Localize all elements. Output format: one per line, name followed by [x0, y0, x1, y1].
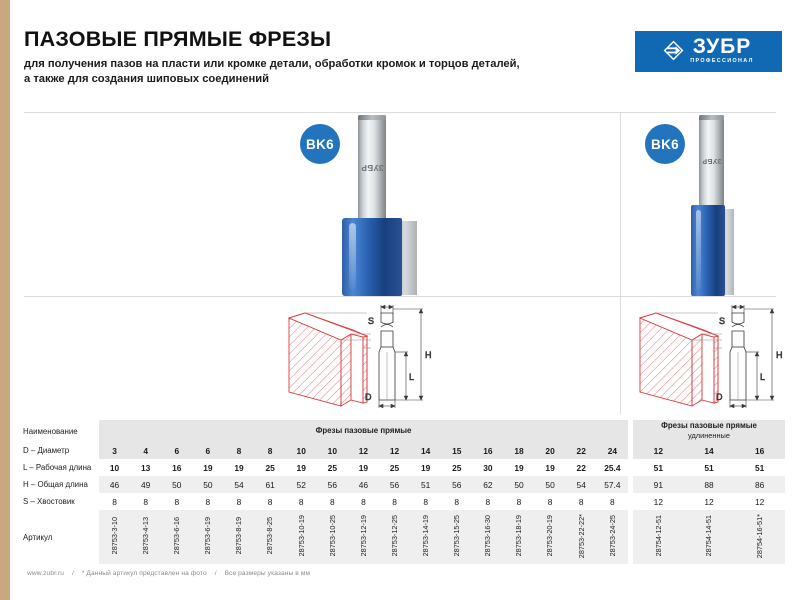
bit-body-highlight [349, 223, 356, 289]
cell-working-length-9: 19 [348, 459, 379, 476]
article-code: 28753-6-16 [173, 517, 180, 554]
cell-article-4: 28753-6-19 [192, 510, 223, 564]
cell-shank-2: 8 [130, 493, 161, 510]
article-code: 28753-6-19 [204, 517, 211, 554]
cell-diameter-16: 22 [566, 442, 597, 459]
cell-article-5: 28753-8-19 [223, 510, 254, 564]
cell-diameter-11: 14 [410, 442, 441, 459]
cell-total-length-4: 50 [192, 476, 223, 493]
cell-working-length-8: 25 [317, 459, 348, 476]
group-header-extended: Фрезы пазовые прямые удлиненные [633, 420, 785, 442]
row-label-total-length: H – Общая длина [15, 476, 99, 493]
cell-total-length-7: 52 [286, 476, 317, 493]
cell-working-length-1: 51 [633, 459, 684, 476]
footer-note-photo: * Данный артикул представлен на фото [82, 570, 207, 577]
cell-total-length-12: 56 [441, 476, 472, 493]
cell-working-length-6: 25 [255, 459, 286, 476]
router-bit-standard: ЗУБР [341, 115, 417, 296]
spec-table-standard: Наименование Фрезы пазовые прямые D – Ди… [15, 420, 628, 564]
bit-brand-mark: ЗУБР [702, 157, 722, 164]
cell-total-length-1: 46 [99, 476, 130, 493]
dimension-label-h: H [776, 350, 783, 360]
router-bit-extended: ЗУБР [685, 115, 741, 296]
footer-separator-2: / [215, 570, 217, 577]
article-code: 28753-18-19 [515, 515, 522, 556]
cell-diameter-12: 15 [441, 442, 472, 459]
article-code: 28753-8-25 [266, 517, 273, 554]
cell-total-length-11: 51 [410, 476, 441, 493]
divider-vertical-diagrams [620, 296, 621, 414]
cell-total-length-16: 54 [566, 476, 597, 493]
article-code: 28753-4-13 [142, 517, 149, 554]
cell-total-length-2: 49 [130, 476, 161, 493]
cell-total-length-9: 46 [348, 476, 379, 493]
article-code: 28754-16-51* [756, 514, 763, 558]
article-code: 28753-16-30 [484, 515, 491, 556]
cell-shank-13: 8 [472, 493, 503, 510]
cell-working-length-3: 51 [734, 459, 785, 476]
cell-total-length-17: 57.4 [597, 476, 628, 493]
cell-article-15: 28753-20-19 [535, 510, 566, 564]
bit-shank-top [699, 115, 724, 120]
table-row-article: Артикул28753-3-1028753-4-1328753-6-16287… [15, 510, 628, 564]
cell-article-7: 28753-10-19 [286, 510, 317, 564]
product-photo-extended: BK6 ЗУБР [621, 112, 776, 296]
cell-working-length-10: 25 [379, 459, 410, 476]
dimension-label-h: H [425, 350, 432, 360]
bison-arrow-icon [663, 40, 684, 61]
cell-diameter-2: 14 [684, 442, 735, 459]
technical-diagram-standard: S H L D [275, 300, 455, 412]
article-code: 28753-22-22* [578, 514, 585, 558]
cell-shank-1: 12 [633, 493, 684, 510]
cell-shank-8: 8 [317, 493, 348, 510]
cell-diameter-10: 12 [379, 442, 410, 459]
cell-diameter-3: 16 [734, 442, 785, 459]
cell-working-length-16: 22 [566, 459, 597, 476]
cell-working-length-14: 19 [503, 459, 534, 476]
group-header-standard: Фрезы пазовые прямые [99, 420, 628, 442]
cell-shank-14: 8 [503, 493, 534, 510]
spec-table-extended: Фрезы пазовые прямые удлиненные 121416 5… [633, 420, 785, 564]
cell-diameter-6: 8 [255, 442, 286, 459]
bit-brand-mark: ЗУБР [361, 163, 384, 172]
cell-shank-3: 8 [161, 493, 192, 510]
table-row-working-length: 515151 [633, 459, 785, 476]
footer: www.zubr.ru / * Данный артикул представл… [24, 570, 313, 577]
product-photo-standard: BK6 ЗУБР [24, 112, 620, 296]
bit-shank-top [358, 115, 386, 120]
cell-article-2: 28753-4-13 [130, 510, 161, 564]
article-code: 28753-3-10 [111, 517, 118, 554]
cell-working-length-1: 10 [99, 459, 130, 476]
article-code: 28753-12-25 [391, 515, 398, 556]
cell-total-length-8: 56 [317, 476, 348, 493]
article-code: 28753-20-19 [546, 515, 553, 556]
cell-article-6: 28753-8-25 [255, 510, 286, 564]
brand-logo: ЗУБР ПРОФЕССИОНАЛ [635, 31, 782, 72]
article-code: 28754-12-51 [655, 515, 662, 556]
cell-working-length-13: 30 [472, 459, 503, 476]
page-edge-accent [0, 0, 10, 600]
badge-bk6-extended: BK6 [645, 124, 685, 164]
cell-shank-4: 8 [192, 493, 223, 510]
cell-total-length-5: 54 [223, 476, 254, 493]
cell-working-length-5: 19 [223, 459, 254, 476]
cell-article-17: 28753-24-25 [597, 510, 628, 564]
dimension-label-d: D [365, 392, 372, 402]
bit-body-highlight [696, 210, 701, 290]
cell-total-length-1: 91 [633, 476, 684, 493]
technical-diagram-extended: S H L D [630, 300, 800, 412]
cell-total-length-3: 50 [161, 476, 192, 493]
table-row-total-length: H – Общая длина4649505054615256465651566… [15, 476, 628, 493]
row-label-diameter: D – Диаметр [15, 442, 99, 459]
cell-diameter-9: 12 [348, 442, 379, 459]
article-code: 28753-10-25 [329, 515, 336, 556]
cell-shank-16: 8 [566, 493, 597, 510]
table-row-diameter: D – Диаметр3466881010121214151618202224 [15, 442, 628, 459]
header: ПАЗОВЫЕ ПРЯМЫЕ ФРЕЗЫ для получения пазов… [24, 28, 624, 88]
cell-article-11: 28753-14-19 [410, 510, 441, 564]
table-row-shank: 121212 [633, 493, 785, 510]
cell-article-12: 28753-15-25 [441, 510, 472, 564]
spec-table-extended-grid: Фрезы пазовые прямые удлиненные 121416 5… [633, 420, 785, 564]
article-code: 28753-10-19 [298, 515, 305, 556]
group-header-extended-title: Фрезы пазовые прямые [661, 421, 757, 430]
table-row-group-header: Наименование Фрезы пазовые прямые [15, 420, 628, 442]
cell-shank-11: 8 [410, 493, 441, 510]
cell-shank-15: 8 [535, 493, 566, 510]
cell-article-16: 28753-22-22* [566, 510, 597, 564]
cell-shank-7: 8 [286, 493, 317, 510]
row-label-working-length: L – Рабочая длина [15, 459, 99, 476]
article-code: 28753-24-25 [609, 515, 616, 556]
cell-shank-2: 12 [684, 493, 735, 510]
cell-total-length-13: 62 [472, 476, 503, 493]
cell-working-length-12: 25 [441, 459, 472, 476]
footer-note-units: Все размеры указаны в мм [225, 570, 311, 577]
cell-diameter-17: 24 [597, 442, 628, 459]
cell-article-2: 28754-14-51 [684, 510, 735, 564]
logo-tagline: ПРОФЕССИОНАЛ [690, 59, 753, 64]
cell-article-1: 28754-12-51 [633, 510, 684, 564]
cell-article-14: 28753-18-19 [503, 510, 534, 564]
datasheet-page: ПАЗОВЫЕ ПРЯМЫЕ ФРЕЗЫ для получения пазов… [0, 0, 800, 600]
dimension-label-l: L [760, 372, 765, 382]
article-code: 28753-12-19 [360, 515, 367, 556]
cell-diameter-14: 18 [503, 442, 534, 459]
cell-shank-9: 8 [348, 493, 379, 510]
cell-working-length-11: 19 [410, 459, 441, 476]
row-label-shank: S – Хвостовик [15, 493, 99, 510]
subtitle-line-1: для получения пазов на пласти или кромке… [24, 57, 624, 73]
cell-diameter-5: 8 [223, 442, 254, 459]
article-code: 28754-14-51 [705, 515, 712, 556]
table-row-group-header: Фрезы пазовые прямые удлиненные [633, 420, 785, 442]
group-header-extended-subtitle: удлиненные [688, 431, 730, 440]
dimension-label-s: S [719, 316, 725, 326]
row-label-article: Артикул [15, 510, 99, 564]
cell-article-1: 28753-3-10 [99, 510, 130, 564]
divider-mid [24, 296, 776, 297]
cell-diameter-1: 3 [99, 442, 130, 459]
article-code: 28753-14-19 [422, 515, 429, 556]
cell-shank-3: 12 [734, 493, 785, 510]
cell-article-9: 28753-12-19 [348, 510, 379, 564]
spec-table-standard-grid: Наименование Фрезы пазовые прямые D – Ди… [15, 420, 628, 564]
logo-wordmark: ЗУБР [693, 36, 752, 57]
cell-working-length-2: 13 [130, 459, 161, 476]
cell-total-length-14: 50 [503, 476, 534, 493]
table-row-diameter: 121416 [633, 442, 785, 459]
cell-shank-12: 8 [441, 493, 472, 510]
footer-site[interactable]: www.zubr.ru [27, 570, 64, 577]
cell-diameter-8: 10 [317, 442, 348, 459]
cell-working-length-2: 51 [684, 459, 735, 476]
cell-total-length-15: 50 [535, 476, 566, 493]
cell-working-length-17: 25.4 [597, 459, 628, 476]
cell-article-3: 28753-6-16 [161, 510, 192, 564]
cell-working-length-4: 19 [192, 459, 223, 476]
cell-working-length-7: 19 [286, 459, 317, 476]
dimension-label-d: D [716, 392, 723, 402]
cell-diameter-15: 20 [535, 442, 566, 459]
cell-diameter-7: 10 [286, 442, 317, 459]
badge-bk6-standard: BK6 [300, 124, 340, 164]
cell-shank-5: 8 [223, 493, 254, 510]
cell-article-8: 28753-10-25 [317, 510, 348, 564]
table-row-total-length: 918886 [633, 476, 785, 493]
cell-article-13: 28753-16-30 [472, 510, 503, 564]
cell-shank-1: 8 [99, 493, 130, 510]
table-row-shank: S – Хвостовик88888888888888888 [15, 493, 628, 510]
subtitle-line-2: а также для создания шиповых соединений [24, 72, 624, 88]
table-row-article: 28754-12-5128754-14-5128754-16-51* [633, 510, 785, 564]
cell-working-length-15: 19 [535, 459, 566, 476]
cell-shank-17: 8 [597, 493, 628, 510]
table-row-working-length: L – Рабочая длина10131619192519251925192… [15, 459, 628, 476]
cell-total-length-6: 61 [255, 476, 286, 493]
cell-shank-10: 8 [379, 493, 410, 510]
footer-separator-1: / [72, 570, 74, 577]
column-header-name: Наименование [15, 420, 99, 442]
article-code: 28753-8-19 [235, 517, 242, 554]
dimension-label-s: S [368, 316, 374, 326]
cell-diameter-4: 6 [192, 442, 223, 459]
page-title: ПАЗОВЫЕ ПРЯМЫЕ ФРЕЗЫ [24, 28, 624, 51]
cell-diameter-1: 12 [633, 442, 684, 459]
article-code: 28753-15-25 [453, 515, 460, 556]
dimension-label-l: L [409, 372, 414, 382]
cell-diameter-3: 6 [161, 442, 192, 459]
cell-article-3: 28754-16-51* [734, 510, 785, 564]
page-subtitle: для получения пазов на пласти или кромке… [24, 57, 624, 89]
cell-working-length-3: 16 [161, 459, 192, 476]
cell-total-length-3: 86 [734, 476, 785, 493]
cell-diameter-13: 16 [472, 442, 503, 459]
cell-total-length-2: 88 [684, 476, 735, 493]
cell-diameter-2: 4 [130, 442, 161, 459]
cell-shank-6: 8 [255, 493, 286, 510]
cell-total-length-10: 56 [379, 476, 410, 493]
cell-article-10: 28753-12-25 [379, 510, 410, 564]
